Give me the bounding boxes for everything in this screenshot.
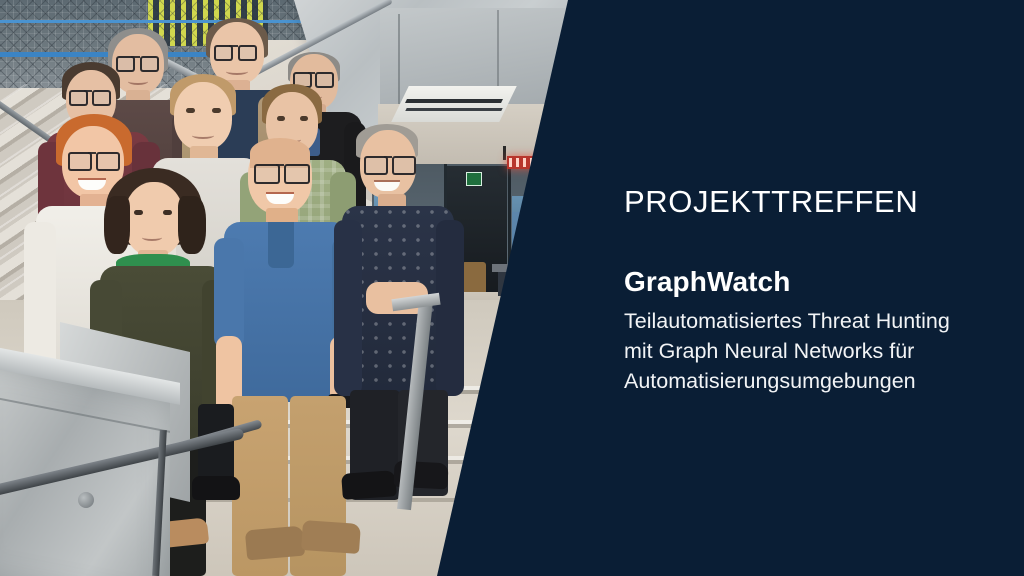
polo-placket xyxy=(268,222,294,268)
interior-chair xyxy=(462,262,486,292)
handrail-bracket xyxy=(78,492,94,508)
sign-post xyxy=(503,146,506,160)
page-title: GraphWatch xyxy=(624,266,790,298)
hair-side xyxy=(178,196,206,254)
subtitle-line-2: mit Graph Neural Networks für xyxy=(624,336,984,366)
presentation-slide: PROJEKTTREFFEN GraphWatch Teilautomatisi… xyxy=(0,0,1024,576)
ceiling-light-slat xyxy=(405,108,502,111)
exit-sign-icon xyxy=(466,172,482,186)
subtitle-line-3: Automatisierungsumgebungen xyxy=(624,366,984,396)
ceiling-light-panel xyxy=(391,86,517,122)
partial-shoe xyxy=(192,476,240,500)
eyebrow-label: PROJEKTTREFFEN xyxy=(624,184,918,220)
hair-side xyxy=(104,196,130,254)
project-subtitle: Teilautomatisiertes Threat Hunting mit G… xyxy=(624,306,984,396)
title-panel-content: PROJEKTTREFFEN GraphWatch Teilautomatisi… xyxy=(624,0,1004,576)
blue-handrail-upper xyxy=(0,20,345,23)
subtitle-line-1: Teilautomatisiertes Threat Hunting xyxy=(624,306,984,336)
ceiling-light-slat xyxy=(405,99,503,103)
